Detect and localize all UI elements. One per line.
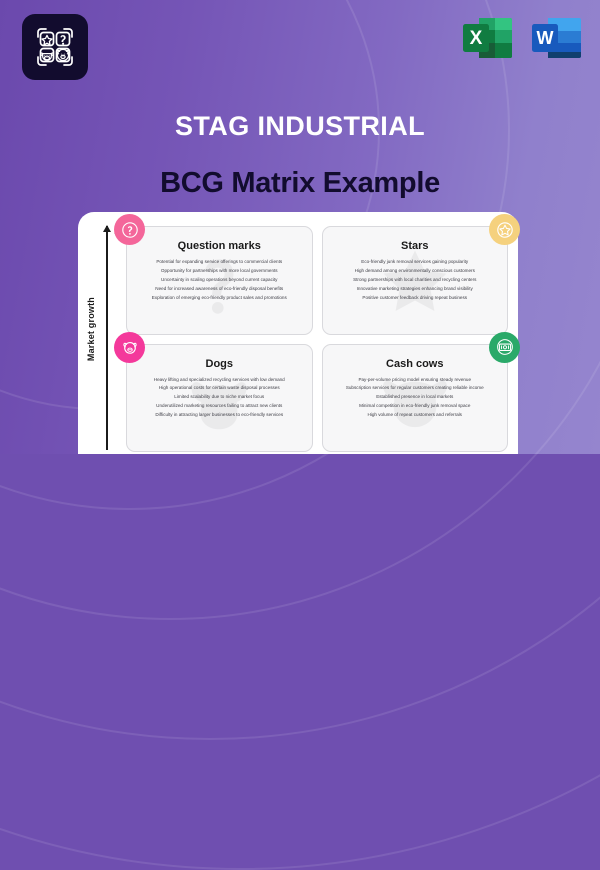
quadrant-stars[interactable]: Stars Eco-friendly junk removal services… xyxy=(322,226,509,335)
star-icon xyxy=(496,221,514,239)
list-item: Heavy lifting and specialized recycling … xyxy=(133,376,306,385)
list-item: High demand among environmentally consci… xyxy=(329,267,502,276)
list-item: Strong partnerships with local charities… xyxy=(329,276,502,285)
list-item: Exploration of emerging eco-friendly pro… xyxy=(133,294,306,303)
list-item: Minimal competition in eco-friendly junk… xyxy=(329,402,502,411)
quadrant-title: Question marks xyxy=(133,240,306,252)
quadrant-bullet-list: Heavy lifting and specialized recycling … xyxy=(133,376,306,421)
list-item: Eco-friendly junk removal services gaini… xyxy=(329,258,502,267)
page-title: BCG Matrix Example xyxy=(0,167,600,200)
excel-icon[interactable]: X xyxy=(459,10,517,68)
list-item: Opportunity for partnerships with more l… xyxy=(133,267,306,276)
list-item: Need for increased awareness of eco-frie… xyxy=(133,285,306,294)
list-item: Potential for expanding service offering… xyxy=(133,258,306,267)
dog-icon xyxy=(121,338,139,356)
list-item: High volume of repeat customers and refe… xyxy=(329,411,502,420)
list-item: Subscription services for regular custom… xyxy=(329,384,502,393)
quadrant-bullet-list: Potential for expanding service offering… xyxy=(133,258,306,303)
bcg-matrix-logo-icon xyxy=(22,14,88,80)
question-mark-icon xyxy=(121,221,139,239)
list-item: Limited scalability due to niche market … xyxy=(133,393,306,402)
quadrant-title: Cash cows xyxy=(329,358,502,370)
office-app-icons: X W xyxy=(459,10,586,68)
question-mark-badge-icon xyxy=(114,214,145,245)
word-icon[interactable]: W xyxy=(528,10,586,68)
quadrant-dogs[interactable]: Dogs Heavy lifting and specialized recyc… xyxy=(126,344,313,453)
bcg-quadrant-grid: Question marks Potential for expanding s… xyxy=(126,226,508,452)
market-growth-axis xyxy=(106,226,108,450)
list-item: Established presence in local markets xyxy=(329,393,502,402)
star-badge-icon xyxy=(489,214,520,245)
page-brand-title: STAG INDUSTRIAL xyxy=(0,111,600,142)
cash-badge-icon xyxy=(489,332,520,363)
svg-text:X: X xyxy=(470,28,483,49)
list-item: Difficulty in attracting larger business… xyxy=(133,411,306,420)
list-item: Positive customer feedback driving repea… xyxy=(329,294,502,303)
quadrant-title: Stars xyxy=(329,240,502,252)
list-item: Underutilized marketing resources failin… xyxy=(133,402,306,411)
quadrant-cash-cows[interactable]: Cash cows Pay-per-volume pricing model e… xyxy=(322,344,509,453)
quadrant-title: Dogs xyxy=(133,358,306,370)
svg-text:W: W xyxy=(537,28,554,48)
cash-icon xyxy=(496,338,514,356)
quadrant-bullet-list: Pay-per-volume pricing model ensuring st… xyxy=(329,376,502,421)
cow-icon xyxy=(41,53,53,60)
list-item: Innovative marketing strategies enhancin… xyxy=(329,285,502,294)
quadrant-bullet-list: Eco-friendly junk removal services gaini… xyxy=(329,258,502,303)
axis-title-market-growth: Market growth xyxy=(86,297,96,361)
star-icon xyxy=(42,35,52,44)
dog-icon xyxy=(57,49,69,60)
dog-badge-icon xyxy=(114,332,145,363)
bcg-matrix-panel: High Market growth Question marks Potent… xyxy=(78,212,518,454)
question-mark-icon xyxy=(60,35,65,45)
quadrant-question-marks[interactable]: Question marks Potential for expanding s… xyxy=(126,226,313,335)
list-item: High operational costs for certain waste… xyxy=(133,384,306,393)
list-item: Uncertainty in scaling operations beyond… xyxy=(133,276,306,285)
list-item: Pay-per-volume pricing model ensuring st… xyxy=(329,376,502,385)
